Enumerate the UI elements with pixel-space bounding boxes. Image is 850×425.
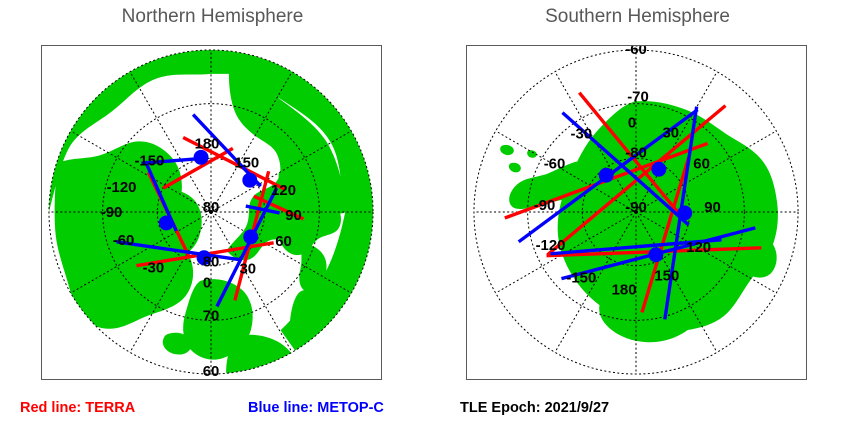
lon-label-neg150: -150 [566,271,596,287]
lon-label-neg60: -60 [544,156,566,172]
south-map-svg: -60 -70 -80 -90 0 30 -30 60 -60 90 -90 1… [467,46,806,379]
plot-area-south: -60 -70 -80 -90 0 30 -30 60 -60 90 -90 1… [466,45,807,380]
lat-label-80: 80 [203,255,220,271]
lon-label-180: 180 [612,283,637,299]
lat-label-neg60-top: -60 [625,46,647,58]
overpass-node[interactable] [677,206,692,221]
lon-label-neg90: -90 [534,198,556,214]
lon-label-neg120: -120 [536,238,566,254]
southern-hemisphere-panel: Southern Hemisphere [425,0,850,390]
northern-hemisphere-panel: Northern Hemisphere [0,0,425,390]
lon-label-neg120: -120 [107,180,137,196]
lon-label-90: 90 [285,208,302,224]
lon-label-150: 150 [234,155,259,171]
lon-label-120: 120 [271,183,296,199]
lon-label-120: 120 [686,240,711,256]
lon-label-0: 0 [628,116,636,132]
lat-label-neg80: -80 [625,145,647,161]
lat-label-neg70: -70 [627,90,649,106]
overpass-node[interactable] [159,215,174,230]
lon-label-30: 30 [663,125,680,141]
legend-footer: Red line: TERRA Blue line: METOP-C TLE E… [0,392,850,425]
panel-title-south: Southern Hemisphere [425,6,850,28]
overpass-node[interactable] [648,247,663,262]
lon-label-neg30: -30 [143,261,165,277]
lat-label-60: 60 [203,364,220,379]
lon-label-neg30: -30 [571,126,593,142]
lon-label-0: 0 [203,276,211,292]
lon-label-180: 180 [195,136,220,152]
lon-label-90: 90 [704,200,721,216]
overpass-node[interactable] [242,173,257,188]
lon-label-neg150: -150 [134,153,164,169]
legend-terra: Red line: TERRA [20,400,135,416]
lon-label-60: 60 [693,156,710,172]
overpass-node[interactable] [243,229,258,244]
lat-label-70: 70 [203,308,220,324]
overpass-node[interactable] [599,168,614,183]
overpass-node[interactable] [651,162,666,177]
tle-epoch-label: TLE Epoch: 2021/9/27 [460,400,609,416]
lon-label-neg60: -60 [113,233,135,249]
legend-metop-c: Blue line: METOP-C [248,400,384,416]
lon-label-60: 60 [275,234,292,250]
lon-label-neg90: -90 [101,205,123,221]
lat-label-neg90-center: -90 [625,200,647,216]
lon-label-30: 30 [239,262,256,278]
panel-title-north: Northern Hemisphere [0,6,425,28]
north-map-svg: 180 -150 150 -120 120 -90 90 -60 60 -30 … [42,46,381,379]
plot-area-north: 180 -150 150 -120 120 -90 90 -60 60 -30 … [41,45,382,380]
lon-label-150: 150 [654,269,679,285]
lat-label-80-center: 80 [203,200,220,216]
